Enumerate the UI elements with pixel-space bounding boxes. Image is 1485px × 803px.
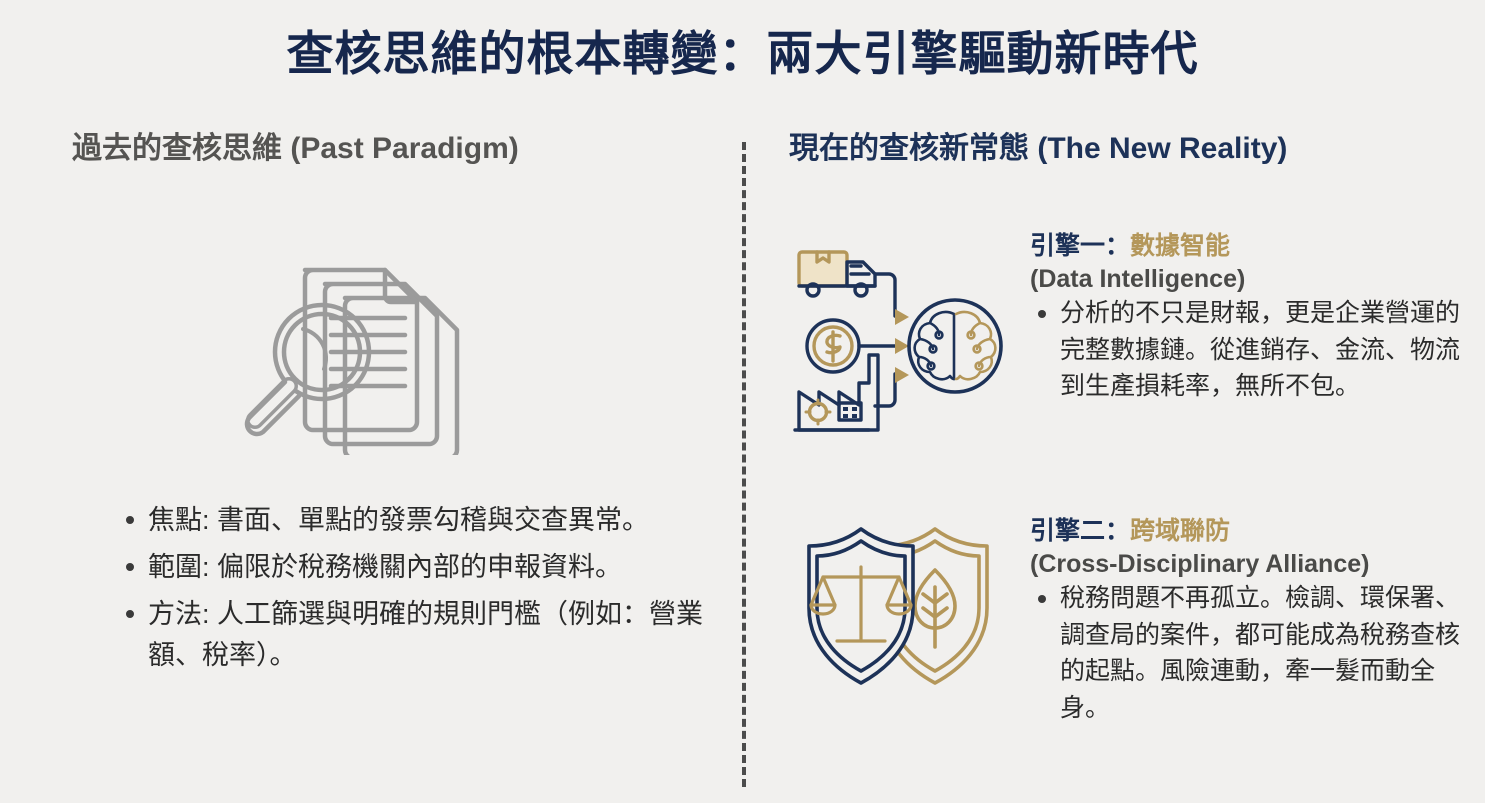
list-item: 範圍: 偏限於稅務機關內部的申報資料。 xyxy=(118,547,718,588)
engine-text-block: 引擎二：跨域聯防 (Cross-Disciplinary Alliance) 稅… xyxy=(1030,515,1465,732)
past-paradigm-column: 過去的查核思維 (Past Paradigm) xyxy=(40,130,720,790)
list-item: 分析的不只是財報，更是企業營運的完整數據鏈。從進銷存、金流、物流到生產損耗率，無… xyxy=(1030,295,1465,405)
engine-title-accent: 數據智能 xyxy=(1130,232,1230,260)
engine-title-accent: 跨域聯防 xyxy=(1130,517,1230,545)
engine-title-prefix: 引擎一： xyxy=(1030,232,1130,260)
new-reality-column: 現在的查核新常態 (The New Reality) xyxy=(775,130,1465,790)
documents-magnifier-icon xyxy=(235,240,515,455)
engine-subtitle: (Data Intelligence) xyxy=(1030,263,1465,295)
engine-title-prefix: 引擎二： xyxy=(1030,517,1130,545)
engine-bullet-list: 稅務問題不再孤立。檢調、環保署、調查局的案件，都可能成為稅務查核的起點。風險連動… xyxy=(1030,580,1465,726)
left-column-heading: 過去的查核思維 (Past Paradigm) xyxy=(40,130,720,168)
engine-title: 引擎二：跨域聯防 xyxy=(1030,515,1465,548)
engine-subtitle: (Cross-Disciplinary Alliance) xyxy=(1030,548,1465,580)
column-divider xyxy=(742,142,746,787)
list-item: 焦點: 書面、單點的發票勾稽與交查異常。 xyxy=(118,500,718,541)
list-item: 稅務問題不再孤立。檢調、環保署、調查局的案件，都可能成為稅務查核的起點。風險連動… xyxy=(1030,580,1465,726)
list-item: 方法: 人工篩選與明確的規則門檻（例如：營業額、稅率）。 xyxy=(118,594,718,676)
right-column-heading: 現在的查核新常態 (The New Reality) xyxy=(775,130,1465,168)
page-title: 查核思維的根本轉變：兩大引擎驅動新時代 xyxy=(0,26,1485,82)
engine-text-block: 引擎一：數據智能 (Data Intelligence) 分析的不只是財報，更是… xyxy=(1030,230,1465,411)
engine-bullet-list: 分析的不只是財報，更是企業營運的完整數據鏈。從進銷存、金流、物流到生產損耗率，無… xyxy=(1030,295,1465,405)
data-intelligence-brain-icon xyxy=(785,230,1010,450)
dual-shields-icon xyxy=(785,515,1010,710)
past-paradigm-bullet-list: 焦點: 書面、單點的發票勾稽與交查異常。 範圍: 偏限於稅務機關內部的申報資料。… xyxy=(118,500,718,682)
engine-title: 引擎一：數據智能 xyxy=(1030,230,1465,263)
